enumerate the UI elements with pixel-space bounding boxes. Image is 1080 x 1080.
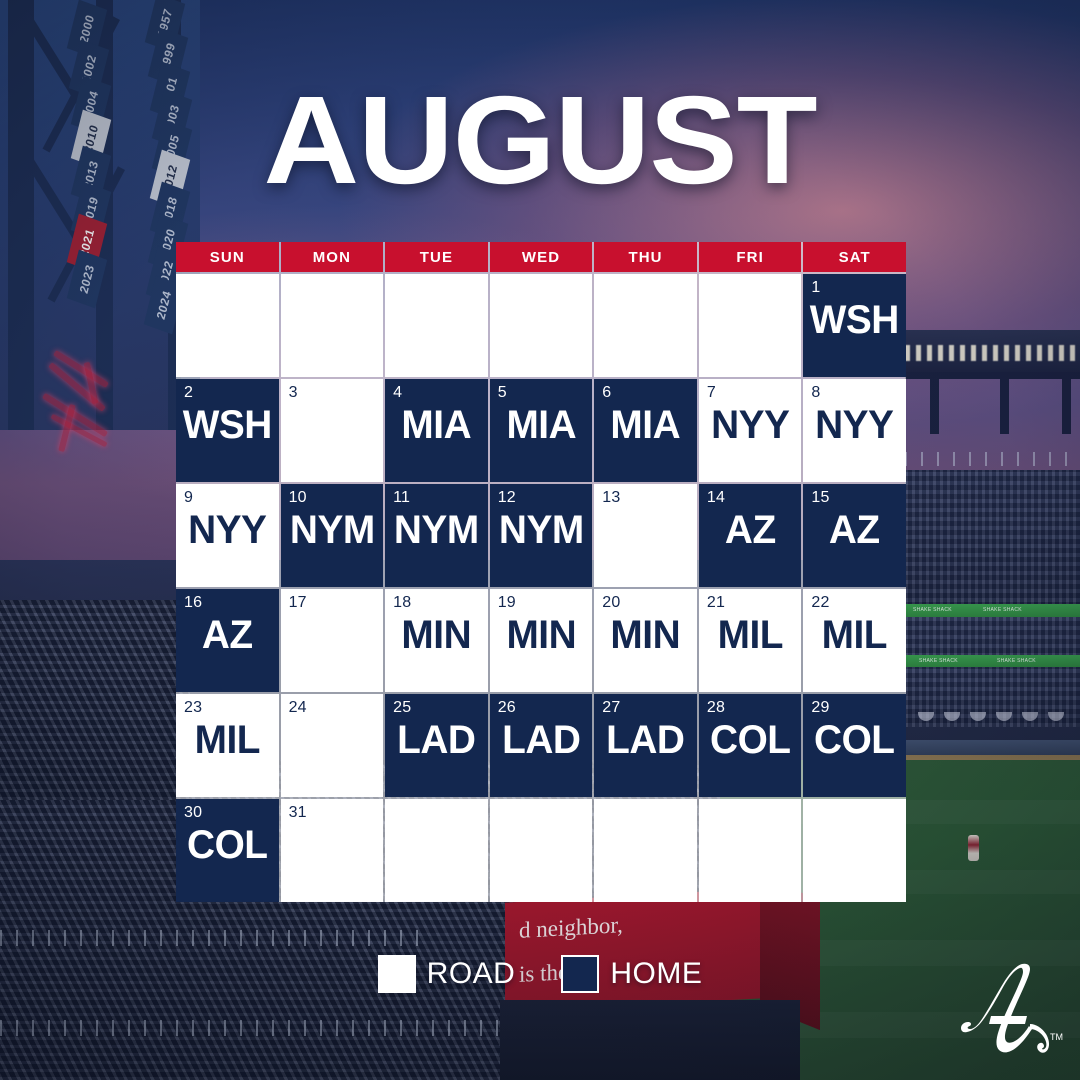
- day-number: 3: [289, 384, 298, 402]
- calendar-day-game[interactable]: 28COL: [699, 694, 802, 797]
- opponent-abbreviation: LAD: [491, 720, 591, 760]
- opponent-abbreviation: MIA: [387, 405, 486, 445]
- opponent-abbreviation: WSH: [178, 405, 277, 445]
- legend-label-home: HOME: [610, 957, 702, 991]
- calendar-day-game[interactable]: 23MIL: [176, 694, 279, 797]
- day-number: 22: [811, 594, 829, 612]
- opponent-abbreviation: WSH: [805, 300, 904, 340]
- day-number: 19: [498, 594, 516, 612]
- schedule-calendar: SUNMONTUEWEDTHUFRISAT 1WSH2WSH34MIA5MIA6…: [176, 242, 906, 902]
- calendar-day-empty: 24: [281, 694, 384, 797]
- calendar-day-game[interactable]: 11NYM: [385, 484, 488, 587]
- calendar-day-game[interactable]: 29COL: [803, 694, 906, 797]
- opponent-abbreviation: MIN: [387, 615, 486, 655]
- day-number: 2: [184, 384, 193, 402]
- deck-beam: [905, 372, 1080, 379]
- page-title: AUGUST: [0, 78, 1080, 203]
- day-number: 15: [811, 489, 829, 507]
- day-header-fri: FRI: [699, 242, 802, 272]
- opponent-abbreviation: MIN: [491, 615, 591, 655]
- day-header-thu: THU: [594, 242, 697, 272]
- day-number: 23: [184, 699, 202, 717]
- opponent-abbreviation: MIA: [491, 405, 591, 445]
- calendar-day-game[interactable]: 6MIA: [594, 379, 697, 482]
- calendar-day-blank: [385, 274, 488, 377]
- calendar-day-blank: [594, 799, 697, 902]
- legend-label-road: ROAD: [427, 957, 516, 991]
- calendar-day-game[interactable]: 30COL: [176, 799, 279, 902]
- calendar-day-game[interactable]: 9NYY: [176, 484, 279, 587]
- lower-shadow: [500, 1000, 800, 1080]
- opponent-abbreviation: AZ: [700, 510, 800, 550]
- legend-swatch-road: [378, 955, 416, 993]
- calendar-day-game[interactable]: 8NYY: [803, 379, 906, 482]
- calendar-day-game[interactable]: 7NYY: [699, 379, 802, 482]
- day-header-sun: SUN: [176, 242, 279, 272]
- tomahawk-neon-sign: [30, 360, 150, 480]
- day-number: 18: [393, 594, 411, 612]
- day-header-wed: WED: [490, 242, 593, 272]
- day-number: 4: [393, 384, 402, 402]
- day-number: 14: [707, 489, 725, 507]
- day-number: 11: [393, 489, 410, 507]
- opponent-abbreviation: NYY: [805, 405, 904, 445]
- day-number: 10: [289, 489, 307, 507]
- deck-beam: [1000, 376, 1009, 434]
- day-number: 28: [707, 699, 725, 717]
- crowd-railing: [0, 1020, 520, 1036]
- deck-railing: [905, 452, 1080, 466]
- outfield-player: [968, 835, 979, 861]
- calendar-day-game[interactable]: 14AZ: [699, 484, 802, 587]
- calendar-day-game[interactable]: 20MIN: [594, 589, 697, 692]
- calendar-day-game[interactable]: 12NYM: [490, 484, 593, 587]
- crowd-left: [0, 600, 190, 800]
- calendar-day-game[interactable]: 5MIA: [490, 379, 593, 482]
- day-number: 27: [602, 699, 620, 717]
- calendar-day-game[interactable]: 10NYM: [281, 484, 384, 587]
- day-number: 29: [811, 699, 829, 717]
- calendar-day-game[interactable]: 25LAD: [385, 694, 488, 797]
- trademark-symbol: TM: [1050, 1032, 1063, 1042]
- calendar-day-blank: [699, 274, 802, 377]
- calendar-day-game[interactable]: 22MIL: [803, 589, 906, 692]
- day-number: 9: [184, 489, 193, 507]
- opponent-abbreviation: NYM: [387, 510, 486, 550]
- schedule-graphic: SHAKE SHACKSHAKE SHACK SHAKE SHACKSHAKE …: [0, 0, 1080, 1080]
- calendar-day-blank: [176, 274, 279, 377]
- calendar-day-game[interactable]: 27LAD: [594, 694, 697, 797]
- opponent-abbreviation: COL: [805, 720, 904, 760]
- opponent-abbreviation: LAD: [596, 720, 695, 760]
- calendar-day-game[interactable]: 1WSH: [803, 274, 906, 377]
- day-of-week-header-row: SUNMONTUEWEDTHUFRISAT: [176, 242, 906, 274]
- calendar-day-game[interactable]: 19MIN: [490, 589, 593, 692]
- calendar-day-game[interactable]: 4MIA: [385, 379, 488, 482]
- day-number: 26: [498, 699, 516, 717]
- day-number: 24: [289, 699, 307, 717]
- crowd-railing: [0, 930, 420, 946]
- day-number: 5: [498, 384, 507, 402]
- day-number: 6: [602, 384, 611, 402]
- opponent-abbreviation: COL: [700, 720, 800, 760]
- calendar-grid: 1WSH2WSH34MIA5MIA6MIA7NYY8NYY9NYY10NYM11…: [176, 274, 906, 902]
- calendar-day-blank: [594, 274, 697, 377]
- calendar-day-empty: 13: [594, 484, 697, 587]
- opponent-abbreviation: MIL: [700, 615, 800, 655]
- opponent-abbreviation: MIN: [596, 615, 695, 655]
- calendar-day-blank: [490, 799, 593, 902]
- day-number: 1: [811, 279, 820, 297]
- opponent-abbreviation: MIL: [178, 720, 277, 760]
- opponent-abbreviation: COL: [178, 825, 277, 865]
- calendar-day-game[interactable]: 21MIL: [699, 589, 802, 692]
- day-header-tue: TUE: [385, 242, 488, 272]
- day-number: 13: [602, 489, 620, 507]
- calendar-day-blank: [490, 274, 593, 377]
- calendar-day-game[interactable]: 2WSH: [176, 379, 279, 482]
- calendar-day-empty: 17: [281, 589, 384, 692]
- concession-band: SHAKE SHACKSHAKE SHACK: [905, 604, 1080, 617]
- concession-band: SHAKE SHACKSHAKE SHACK: [905, 655, 1080, 667]
- calendar-day-blank: [803, 799, 906, 902]
- calendar-day-game[interactable]: 26LAD: [490, 694, 593, 797]
- opponent-abbreviation: NYM: [491, 510, 591, 550]
- calendar-day-game[interactable]: 16AZ: [176, 589, 279, 692]
- opponent-abbreviation: MIA: [596, 405, 695, 445]
- legend-swatch-home: [561, 955, 599, 993]
- day-number: 16: [184, 594, 202, 612]
- calendar-day-blank: [281, 274, 384, 377]
- day-number: 17: [289, 594, 307, 612]
- calendar-day-game[interactable]: 15AZ: [803, 484, 906, 587]
- opponent-abbreviation: LAD: [387, 720, 486, 760]
- calendar-day-empty: 31: [281, 799, 384, 902]
- stadium-stands-upper: [905, 470, 1080, 620]
- opponent-abbreviation: NYM: [282, 510, 382, 550]
- opponent-abbreviation: AZ: [805, 510, 904, 550]
- legend: ROADHOME: [0, 955, 1080, 993]
- day-header-mon: MON: [281, 242, 384, 272]
- ad-text-line1: d neighbor,: [519, 912, 623, 944]
- day-number: 25: [393, 699, 411, 717]
- calendar-day-game[interactable]: 18MIN: [385, 589, 488, 692]
- opponent-abbreviation: MIL: [805, 615, 904, 655]
- day-number: 21: [707, 594, 725, 612]
- legend-item-home: HOME: [561, 955, 702, 993]
- day-number: 31: [289, 804, 307, 822]
- calendar-day-empty: 3: [281, 379, 384, 482]
- day-header-sat: SAT: [803, 242, 906, 272]
- day-number: 30: [184, 804, 202, 822]
- stadium-lights: [905, 345, 1080, 361]
- opponent-abbreviation: NYY: [700, 405, 800, 445]
- deck-beam: [930, 376, 939, 434]
- legend-item-road: ROAD: [378, 955, 516, 993]
- day-number: 8: [811, 384, 820, 402]
- day-number: 7: [707, 384, 716, 402]
- opponent-abbreviation: NYY: [178, 510, 277, 550]
- opponent-abbreviation: AZ: [178, 615, 277, 655]
- calendar-day-blank: [385, 799, 488, 902]
- calendar-day-blank: [699, 799, 802, 902]
- braves-script-a-logo: TM: [958, 962, 1063, 1062]
- day-number: 12: [498, 489, 516, 507]
- day-number: 20: [602, 594, 620, 612]
- deck-beam: [1062, 376, 1071, 434]
- outfield-ad-wall: d neighbor, is there.: [505, 887, 780, 1012]
